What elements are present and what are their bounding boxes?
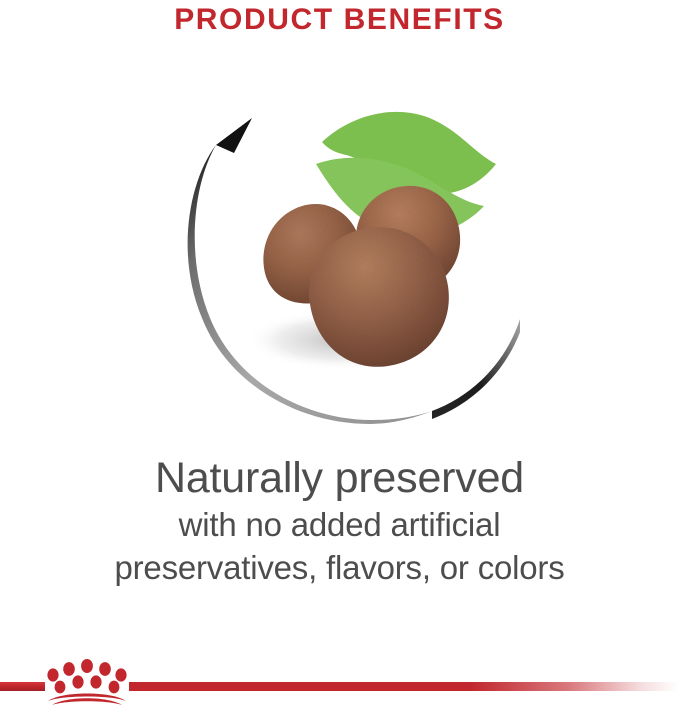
benefit-copy: Naturally preserved with no added artifi… (0, 452, 679, 590)
footer-bar-right (129, 682, 679, 691)
page-title: PRODUCT BENEFITS (0, 2, 679, 38)
brand-footer-svg (0, 643, 679, 707)
kibble-front (309, 227, 449, 367)
illustration-svg (160, 82, 520, 432)
benefit-subline-2: preservatives, flavors, or colors (0, 546, 679, 590)
benefit-subline-1: with no added artificial (0, 504, 679, 546)
royal-canin-crown-icon (47, 659, 126, 705)
benefit-illustration (0, 82, 679, 442)
brand-footer (0, 643, 679, 707)
benefit-headline: Naturally preserved (0, 452, 679, 504)
product-benefits-panel: PRODUCT BENEFITS (0, 0, 679, 707)
circle-arrow-tip (216, 118, 252, 153)
footer-bar-left (0, 682, 45, 691)
